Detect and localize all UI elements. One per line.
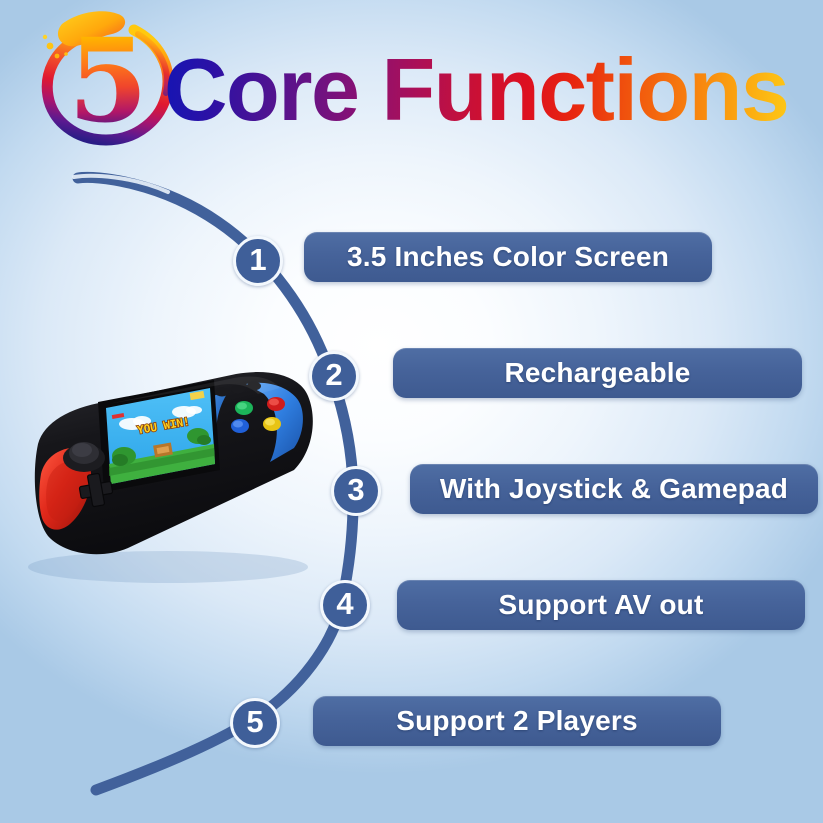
infographic-canvas: 5 Core Functions xyxy=(0,0,823,823)
step-number-3-label: 3 xyxy=(347,474,364,505)
step-number-4[interactable]: 4 xyxy=(320,580,370,630)
step-number-2-label: 2 xyxy=(325,359,342,390)
step-number-5-label: 5 xyxy=(246,706,263,737)
handheld-game-console: YOU WIN! xyxy=(8,352,338,592)
step-number-1-label: 1 xyxy=(249,244,266,275)
console-svg: YOU WIN! xyxy=(8,352,338,592)
step-number-3[interactable]: 3 xyxy=(331,466,381,516)
step-number-4-label: 4 xyxy=(336,588,353,619)
step-number-5[interactable]: 5 xyxy=(230,698,280,748)
step-number-1[interactable]: 1 xyxy=(233,236,283,286)
step-number-2[interactable]: 2 xyxy=(309,351,359,401)
